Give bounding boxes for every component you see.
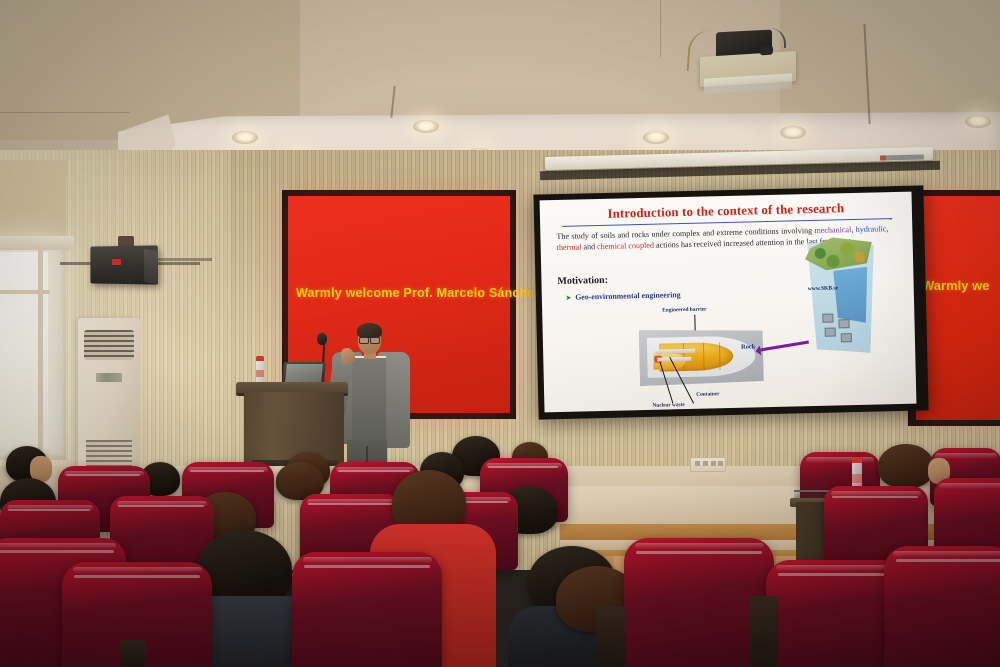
- seat-trim: [308, 503, 392, 505]
- seat-trim: [304, 565, 430, 568]
- seat-trim: [66, 474, 140, 476]
- seat[interactable]: [884, 546, 1000, 667]
- seat-trim: [8, 509, 90, 511]
- ceiling-downlight: [780, 126, 806, 139]
- ceiling-downlight: [965, 115, 991, 128]
- water-bottle-label: [852, 474, 862, 483]
- wall-rail: [152, 258, 212, 261]
- ac-display-panel: [96, 373, 122, 382]
- diagram-skb-repository-box: [841, 333, 852, 342]
- water-bottle-cap: [852, 457, 862, 463]
- ceiling-seam: [0, 112, 130, 113]
- slide-sep: ,: [886, 224, 888, 233]
- led-screen-left-text: Warmly welcome Prof. Marcelo Sánchez: [296, 286, 506, 300]
- seat-trim: [0, 550, 114, 553]
- slide-word-hydraulic: hydraulic: [856, 224, 887, 234]
- diagram-skb-water: [833, 267, 868, 324]
- diagram-rod: [657, 357, 691, 362]
- seat-trim: [636, 551, 762, 554]
- wall-speaker-side: [144, 249, 158, 285]
- audience-head: [878, 444, 934, 488]
- diagram-skb-repository-box: [825, 327, 836, 336]
- seat-trim: [190, 470, 264, 472]
- water-bottle-cap: [256, 356, 264, 361]
- diagram-skb-url: www.SKB.se: [808, 285, 839, 292]
- ceiling-seam: [660, 0, 661, 58]
- water-bottle-label: [256, 370, 264, 377]
- seat-armrest: [750, 596, 778, 667]
- seat-trim: [832, 496, 918, 498]
- seat-trim: [74, 575, 200, 578]
- ac-grille-icon: [84, 330, 134, 360]
- window-mullion: [0, 290, 50, 294]
- seat-trim: [778, 573, 894, 576]
- slide-word-chemical-coupled: chemical coupled: [597, 241, 654, 251]
- ceiling-downlight: [413, 120, 439, 133]
- seat-trim: [896, 559, 1000, 562]
- diagram-skb-repository-box: [822, 314, 833, 323]
- microphone-icon: [317, 333, 327, 345]
- podium: [244, 392, 344, 464]
- slide-word-thermal: thermal: [557, 243, 582, 253]
- diagram-skb-repository-box: [838, 319, 849, 328]
- slide-motivation-heading: Motivation:: [557, 275, 608, 287]
- seat-armrest: [120, 640, 146, 667]
- ceiling-downlight: [643, 131, 669, 144]
- slide-bullet-geoenv: Geo-environmental engineering: [566, 290, 681, 302]
- seat-trim: [488, 466, 558, 468]
- window-blind: [0, 236, 74, 250]
- diagram-purple-arrow-icon: [757, 341, 809, 352]
- slide-sep: and: [581, 243, 597, 252]
- diagram-label-engineered-barrier: Engineered barrier: [662, 307, 707, 314]
- window-mullion: [38, 250, 43, 450]
- projector-lens-icon: [760, 46, 773, 56]
- led-screen-right: [916, 196, 1000, 420]
- jbl-logo-icon: [112, 259, 121, 265]
- diagram-label-nuclear-waste: Nuclear waste: [652, 402, 685, 409]
- seat-armrest: [596, 606, 626, 667]
- presenter-jacket-center: [352, 358, 386, 446]
- lecture-hall-photo: Warmly welcome Prof. Marcelo Sánchez War…: [0, 0, 1000, 667]
- seat-trim: [118, 505, 204, 507]
- wall-outlet[interactable]: [690, 457, 726, 472]
- seat-trim: [338, 470, 410, 472]
- podium-laptop-screen: [285, 364, 323, 382]
- led-screen-right-text: Warmly we: [922, 278, 1000, 293]
- slide-word-mechanical: mechanical: [814, 225, 851, 235]
- ceiling-downlight: [232, 131, 258, 144]
- seat[interactable]: [292, 552, 442, 667]
- presenter-glasses-icon: [359, 336, 380, 342]
- projection-slide: Introduction to the context of the resea…: [540, 192, 917, 413]
- ac-grille-icon: [86, 440, 132, 466]
- diagram-label-container: Container: [696, 391, 719, 398]
